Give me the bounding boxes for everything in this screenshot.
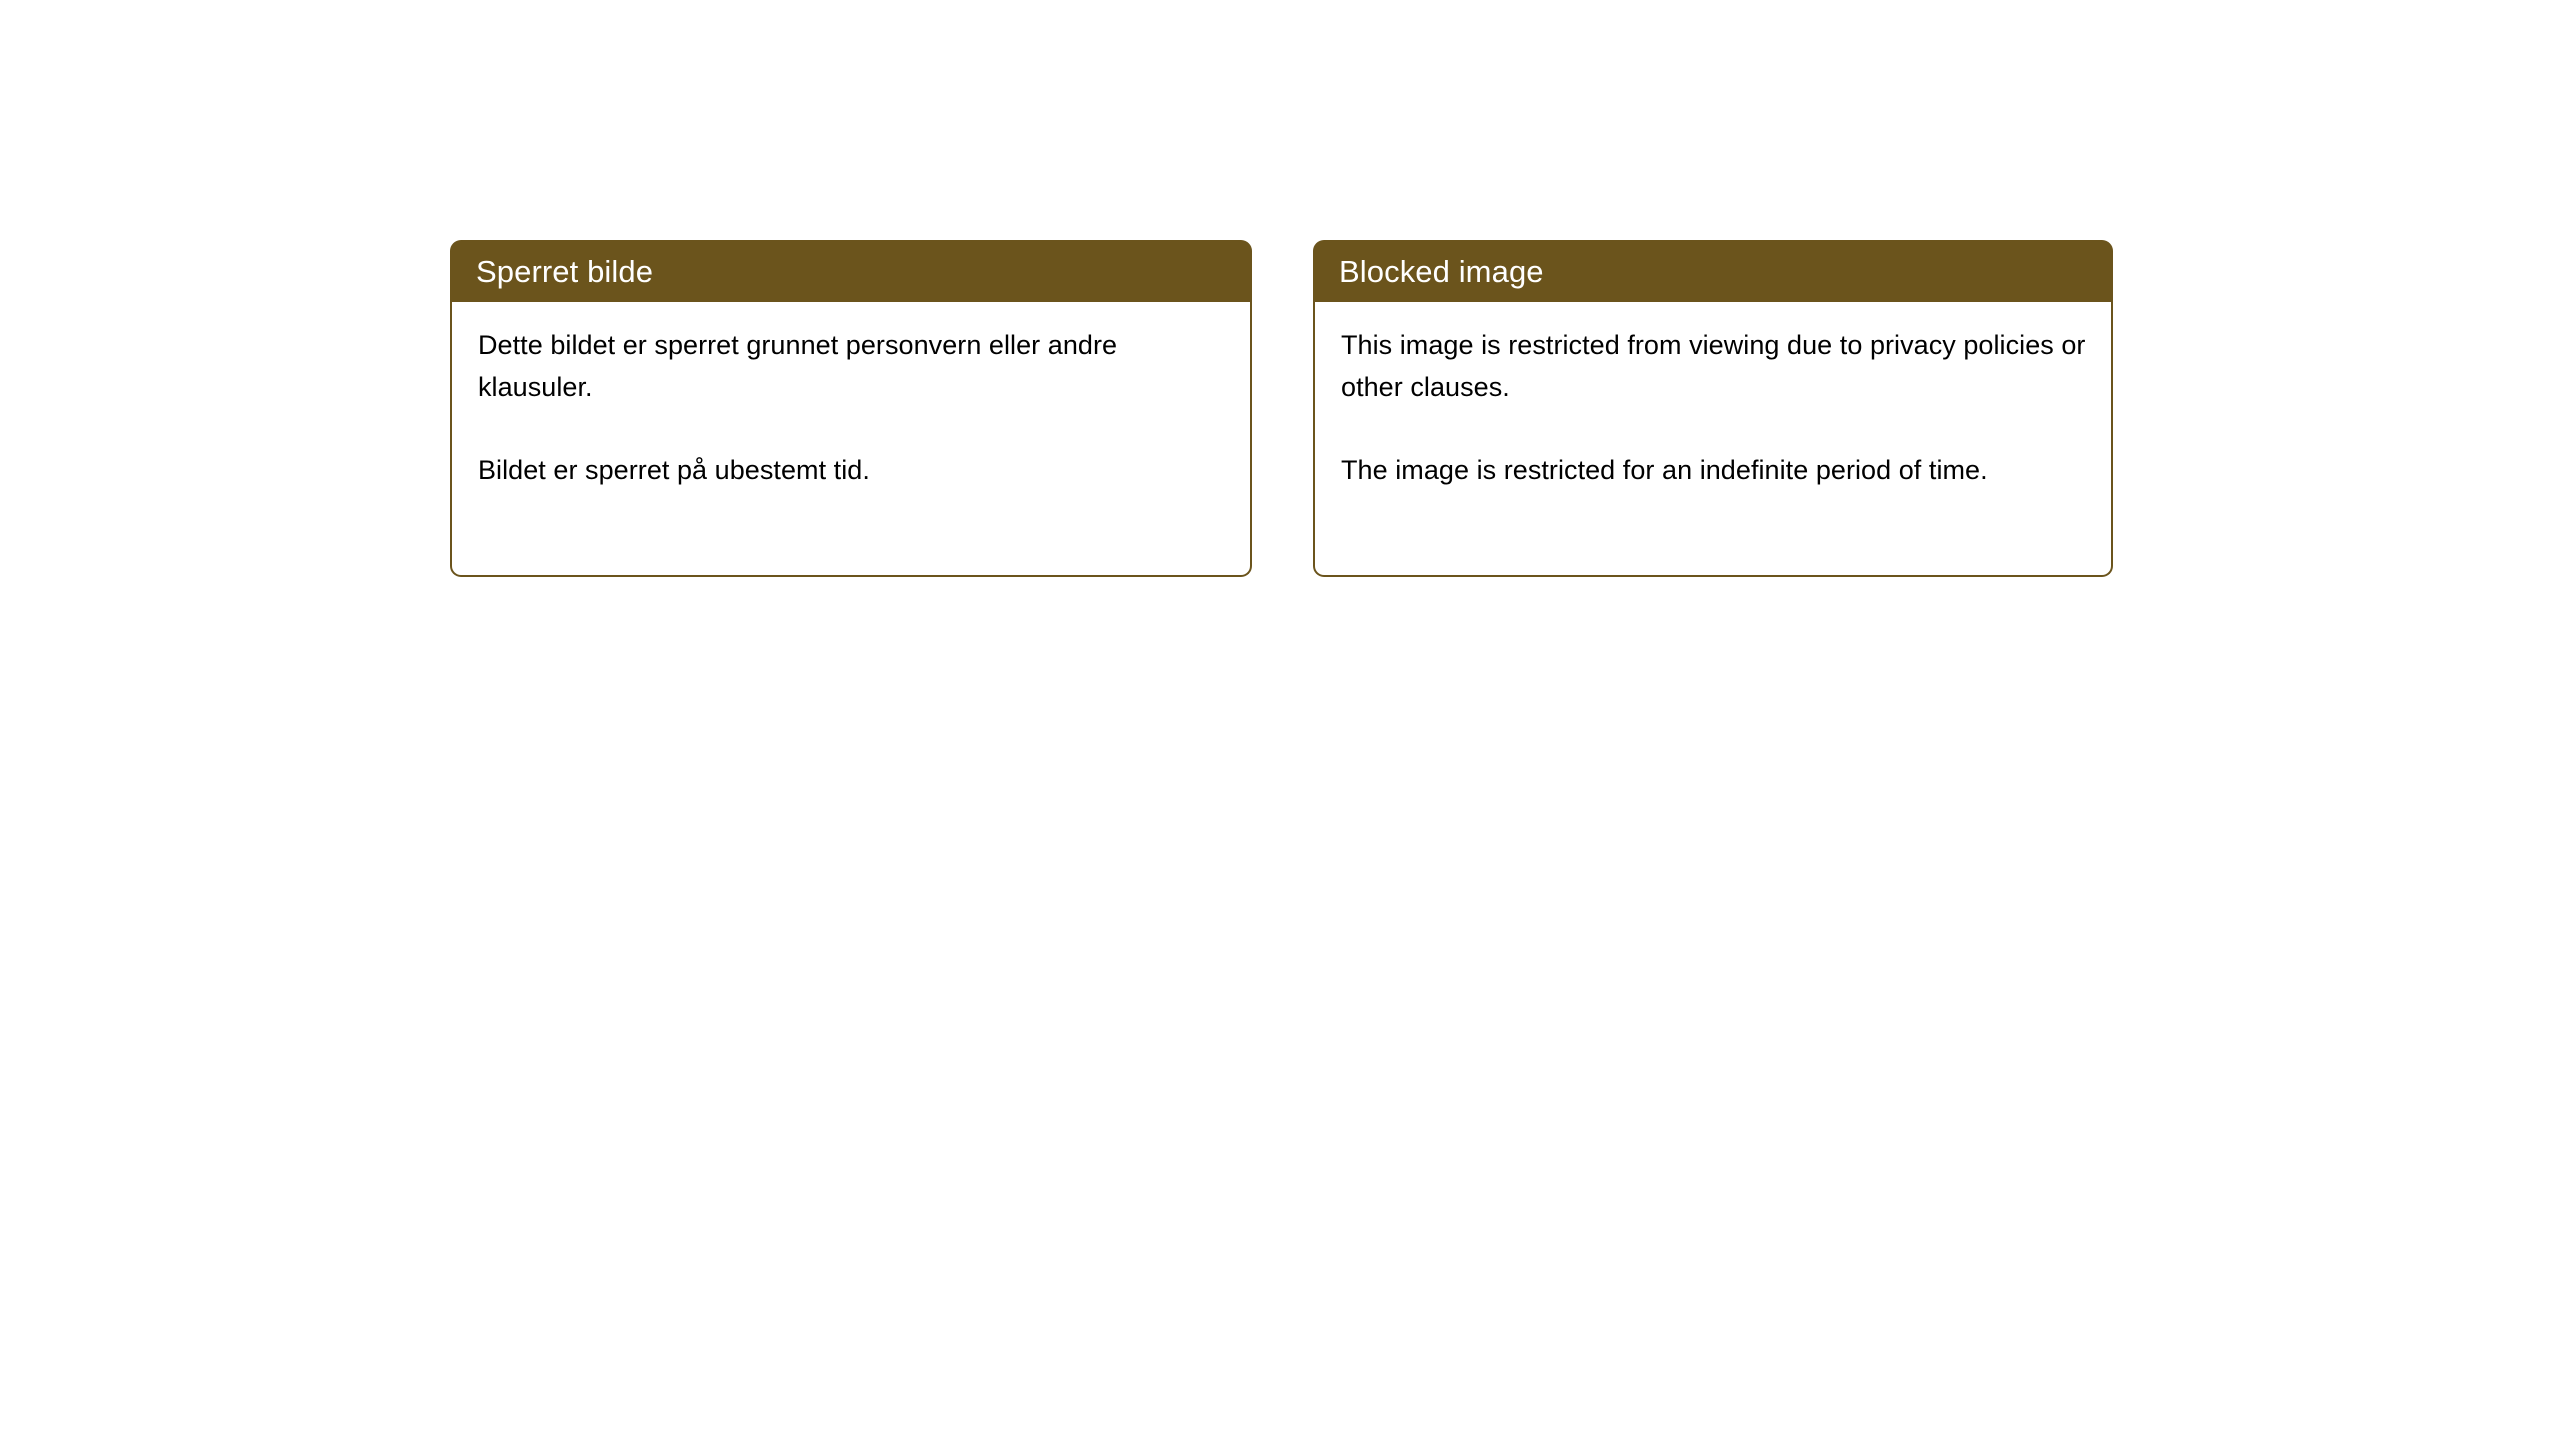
notice-header-no: Sperret bilde [450, 240, 1252, 302]
notice-body-en: This image is restricted from viewing du… [1313, 302, 2113, 577]
notice-paragraph-duration-no: Bildet er sperret på ubestemt tid. [478, 449, 1226, 491]
notice-title-no: Sperret bilde [476, 256, 653, 287]
notice-card-group: Sperret bilde Dette bildet er sperret gr… [450, 240, 2113, 577]
notice-body-no: Dette bildet er sperret grunnet personve… [450, 302, 1252, 577]
blocked-image-notice-en: Blocked image This image is restricted f… [1313, 240, 2113, 577]
notice-title-en: Blocked image [1339, 256, 1544, 287]
notice-paragraph-reason-en: This image is restricted from viewing du… [1341, 324, 2087, 408]
blocked-image-notice-no: Sperret bilde Dette bildet er sperret gr… [450, 240, 1252, 577]
notice-header-en: Blocked image [1313, 240, 2113, 302]
notice-paragraph-reason-no: Dette bildet er sperret grunnet personve… [478, 324, 1226, 408]
notice-paragraph-duration-en: The image is restricted for an indefinit… [1341, 449, 2087, 491]
page-root: Sperret bilde Dette bildet er sperret gr… [0, 0, 2560, 1440]
